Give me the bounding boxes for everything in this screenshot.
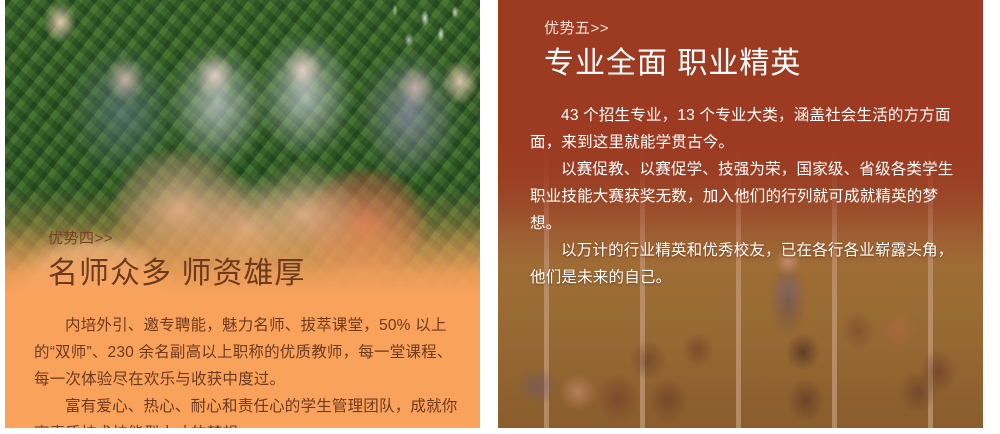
advantage-four-content: 优势四>> 名师众多 师资雄厚 内培外引、邀专聘能，魅力名师、拔萃课堂，50% …: [34, 228, 462, 428]
advantage-four-paragraph-2: 富有爱心、热心、耐心和责任心的学生管理团队，成就你高素质技术技能型人才的梦想。: [34, 393, 462, 428]
advantage-five-paragraph-1: 43 个招生专业，13 个专业大类，涵盖社会生活的方方面面，来到这里就能学贯古今…: [530, 102, 960, 156]
advantage-five-content: 优势五>> 专业全面 职业精英 43 个招生专业，13 个专业大类，涵盖社会生活…: [530, 18, 960, 291]
advantage-four-panel[interactable]: 优势四>> 名师众多 师资雄厚 内培外引、邀专聘能，魅力名师、拔萃课堂，50% …: [5, 0, 480, 428]
advantages-banner: 优势四>> 名师众多 师资雄厚 内培外引、邀专聘能，魅力名师、拔萃课堂，50% …: [0, 0, 1000, 434]
advantage-four-headline: 名师众多 师资雄厚: [48, 254, 462, 294]
advantage-five-paragraph-3: 以万计的行业精英和优秀校友，已在各行各业崭露头角，他们是未来的自己。: [530, 237, 960, 291]
advantage-five-headline: 专业全面 职业精英: [544, 44, 960, 84]
advantage-four-eyebrow: 优势四>>: [48, 228, 462, 250]
advantage-five-panel[interactable]: 优势五>> 专业全面 职业精英 43 个招生专业，13 个专业大类，涵盖社会生活…: [498, 0, 983, 428]
advantage-five-eyebrow: 优势五>>: [544, 18, 960, 40]
advantage-five-paragraph-2: 以赛促教、以赛促学、技强为荣，国家级、省级各类学生职业技能大赛获奖无数，加入他们…: [530, 156, 960, 237]
advantage-four-paragraph-1: 内培外引、邀专聘能，魅力名师、拔萃课堂，50% 以上的“双师”、230 余名副高…: [34, 312, 462, 393]
